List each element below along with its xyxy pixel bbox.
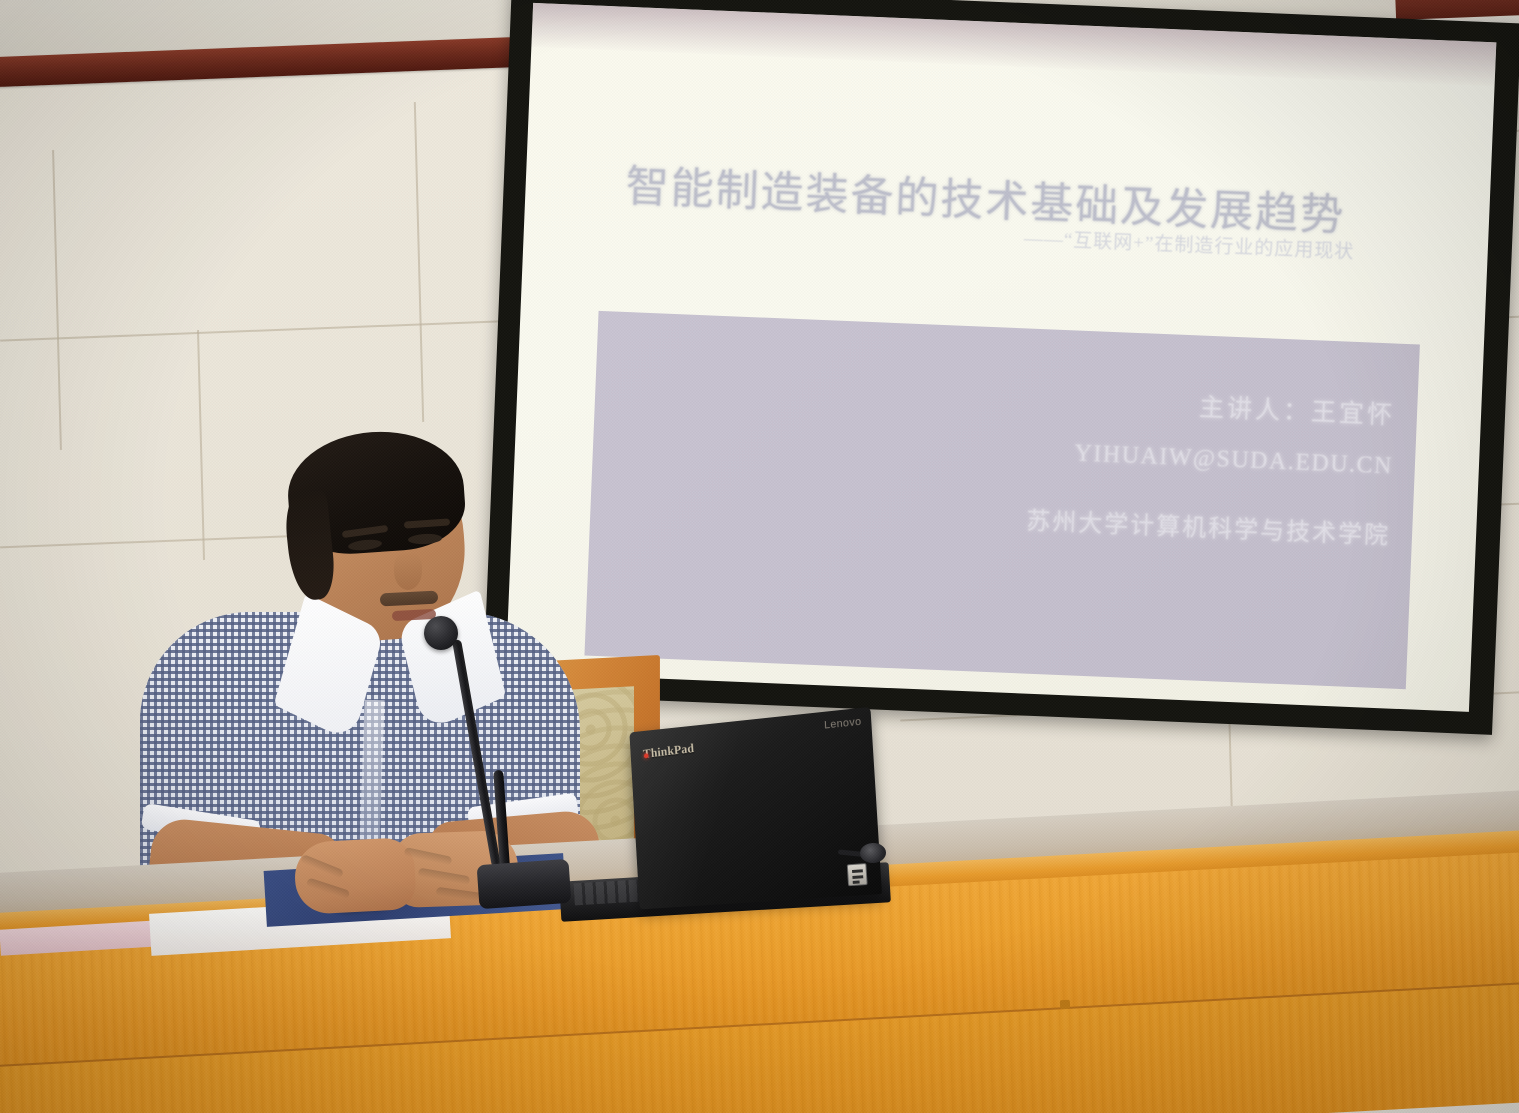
slide-title: 智能制造装备的技术基础及发展趋势	[625, 152, 1417, 246]
laptop-lid: ThinkPad Lenovo	[629, 707, 882, 910]
slide-speaker-line: 主讲人：王宜怀	[1198, 388, 1395, 432]
wall-wood-trim-right	[1395, 0, 1519, 20]
slide-email-line: YIHUAIW@SUDA.EDU.CN	[1074, 440, 1393, 480]
laptop-sticker-icon	[847, 863, 868, 886]
slide-content-box: 主讲人：王宜怀 YIHUAIW@SUDA.EDU.CN 苏州大学计算机科学与技术…	[584, 311, 1419, 689]
microphone-base	[477, 859, 572, 909]
projection-screen: 智能制造装备的技术基础及发展趋势 ——“互联网+”在制造行业的应用现状 主讲人：…	[483, 0, 1519, 735]
microphone-icon	[424, 616, 458, 650]
slide-affiliation-line: 苏州大学计算机科学与技术学院	[1026, 501, 1391, 551]
podium-notch	[1060, 1000, 1070, 1010]
lecture-photograph: 智能制造装备的技术基础及发展趋势 ——“互联网+”在制造行业的应用现状 主讲人：…	[0, 0, 1519, 1113]
presenter-nose	[394, 552, 422, 590]
presenter-hand-left	[293, 837, 417, 915]
laptop-lid-sheen	[629, 707, 882, 910]
screen-surface: 智能制造装备的技术基础及发展趋势 ——“互联网+”在制造行业的应用现状 主讲人：…	[506, 3, 1497, 712]
